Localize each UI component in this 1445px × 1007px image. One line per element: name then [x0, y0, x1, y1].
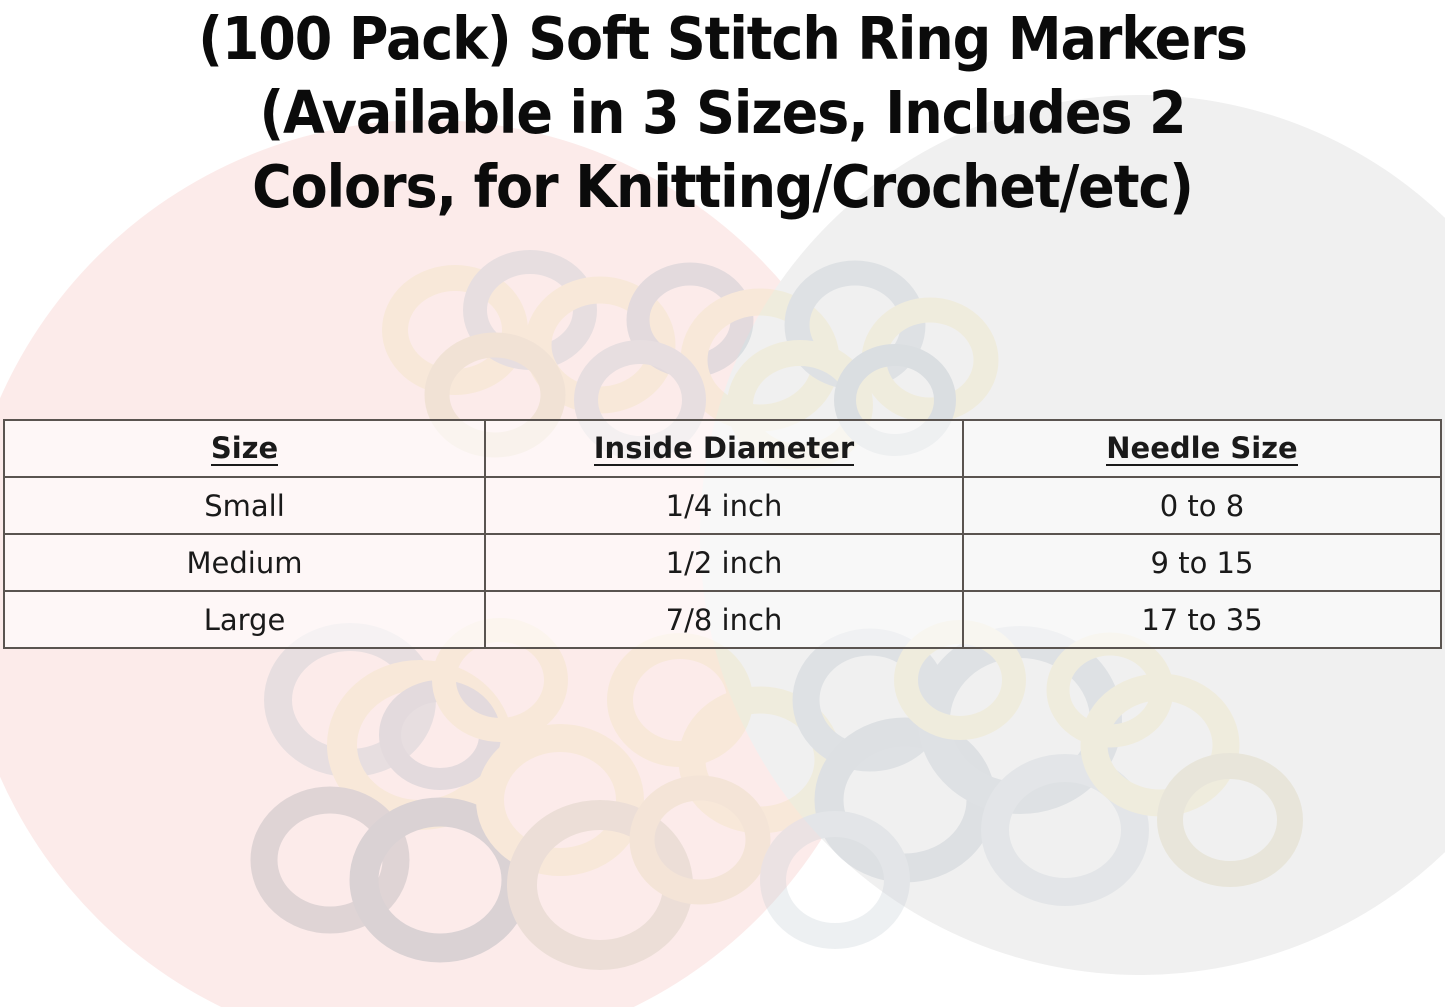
column-header-needle-size-label: Needle Size	[1106, 433, 1297, 466]
column-header-size-label: Size	[211, 433, 278, 466]
cell-inside-diameter: 7/8 inch	[485, 591, 963, 648]
size-chart-table: Size Inside Diameter Needle Size Small 1…	[3, 419, 1442, 649]
cell-size: Medium	[4, 534, 485, 591]
product-infographic: (100 Pack) Soft Stitch Ring Markers (Ava…	[0, 0, 1445, 1007]
title-line-1: (100 Pack) Soft Stitch Ring Markers	[61, 2, 1383, 76]
cell-needle-size: 9 to 15	[963, 534, 1441, 591]
column-header-inside-diameter-label: Inside Diameter	[594, 433, 854, 466]
product-title: (100 Pack) Soft Stitch Ring Markers (Ava…	[0, 0, 1445, 224]
cell-size: Small	[4, 477, 485, 534]
size-chart: Size Inside Diameter Needle Size Small 1…	[3, 419, 1440, 649]
cell-size: Large	[4, 591, 485, 648]
title-line-2: (Available in 3 Sizes, Includes 2	[61, 76, 1383, 150]
column-header-needle-size: Needle Size	[963, 420, 1441, 477]
table-row: Medium 1/2 inch 9 to 15	[4, 534, 1441, 591]
title-line-3: Colors, for Knitting/Crochet/etc)	[61, 150, 1383, 224]
cell-inside-diameter: 1/4 inch	[485, 477, 963, 534]
table-header-row: Size Inside Diameter Needle Size	[4, 420, 1441, 477]
cell-inside-diameter: 1/2 inch	[485, 534, 963, 591]
column-header-size: Size	[4, 420, 485, 477]
cell-needle-size: 0 to 8	[963, 477, 1441, 534]
cell-needle-size: 17 to 35	[963, 591, 1441, 648]
table-row: Large 7/8 inch 17 to 35	[4, 591, 1441, 648]
table-row: Small 1/4 inch 0 to 8	[4, 477, 1441, 534]
column-header-inside-diameter: Inside Diameter	[485, 420, 963, 477]
